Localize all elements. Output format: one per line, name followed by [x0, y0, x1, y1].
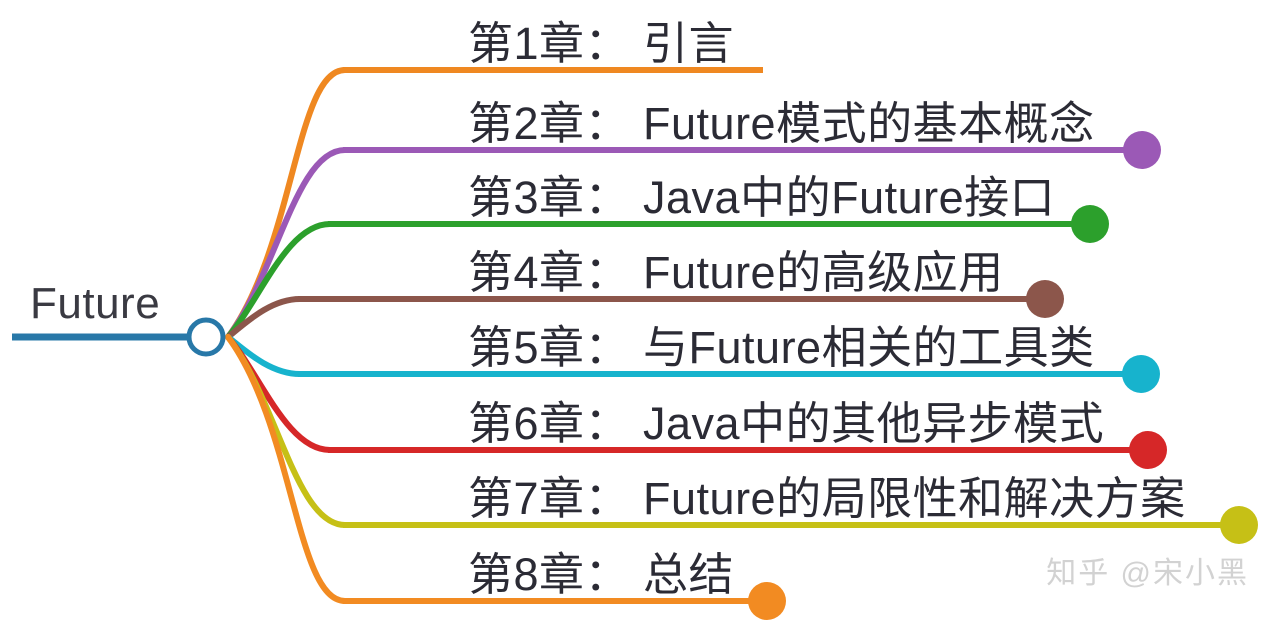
branch-dot-chapter-6[interactable] [1129, 431, 1167, 469]
mindmap-connector-layer [0, 0, 1271, 634]
branch-dot-chapter-8[interactable] [748, 582, 786, 620]
watermark-text: 知乎 @宋小黑 [1046, 548, 1249, 592]
branch-label-chapter-8[interactable]: 第8章： 总结 [468, 552, 734, 597]
root-node-circle[interactable] [189, 320, 223, 354]
branch-curves [228, 70, 345, 601]
branch-dot-chapter-2[interactable] [1123, 131, 1161, 169]
branch-label-chapter-2[interactable]: 第2章： Future模式的基本概念 [468, 101, 1095, 146]
branch-label-chapter-5[interactable]: 第5章： 与Future相关的工具类 [468, 325, 1095, 370]
branch-dot-chapter-3[interactable] [1071, 205, 1109, 243]
branch-dot-chapter-5[interactable] [1122, 355, 1160, 393]
mindmap-canvas: Future 第1章： 引言第2章： Future模式的基本概念第3章： Jav… [0, 0, 1271, 634]
branch-label-chapter-1[interactable]: 第1章： 引言 [468, 21, 734, 66]
branch-label-chapter-3[interactable]: 第3章： Java中的Future接口 [468, 175, 1055, 220]
branch-label-chapter-7[interactable]: 第7章： Future的局限性和解决方案 [468, 476, 1186, 521]
branch-label-chapter-6[interactable]: 第6章： Java中的其他异步模式 [468, 401, 1104, 446]
branch-dot-chapter-4[interactable] [1026, 280, 1064, 318]
branch-dot-chapter-7[interactable] [1220, 506, 1258, 544]
root-node-circle-shape[interactable] [189, 320, 223, 354]
root-node-label[interactable]: Future [30, 282, 160, 326]
branch-label-chapter-4[interactable]: 第4章： Future的高级应用 [468, 250, 1004, 295]
